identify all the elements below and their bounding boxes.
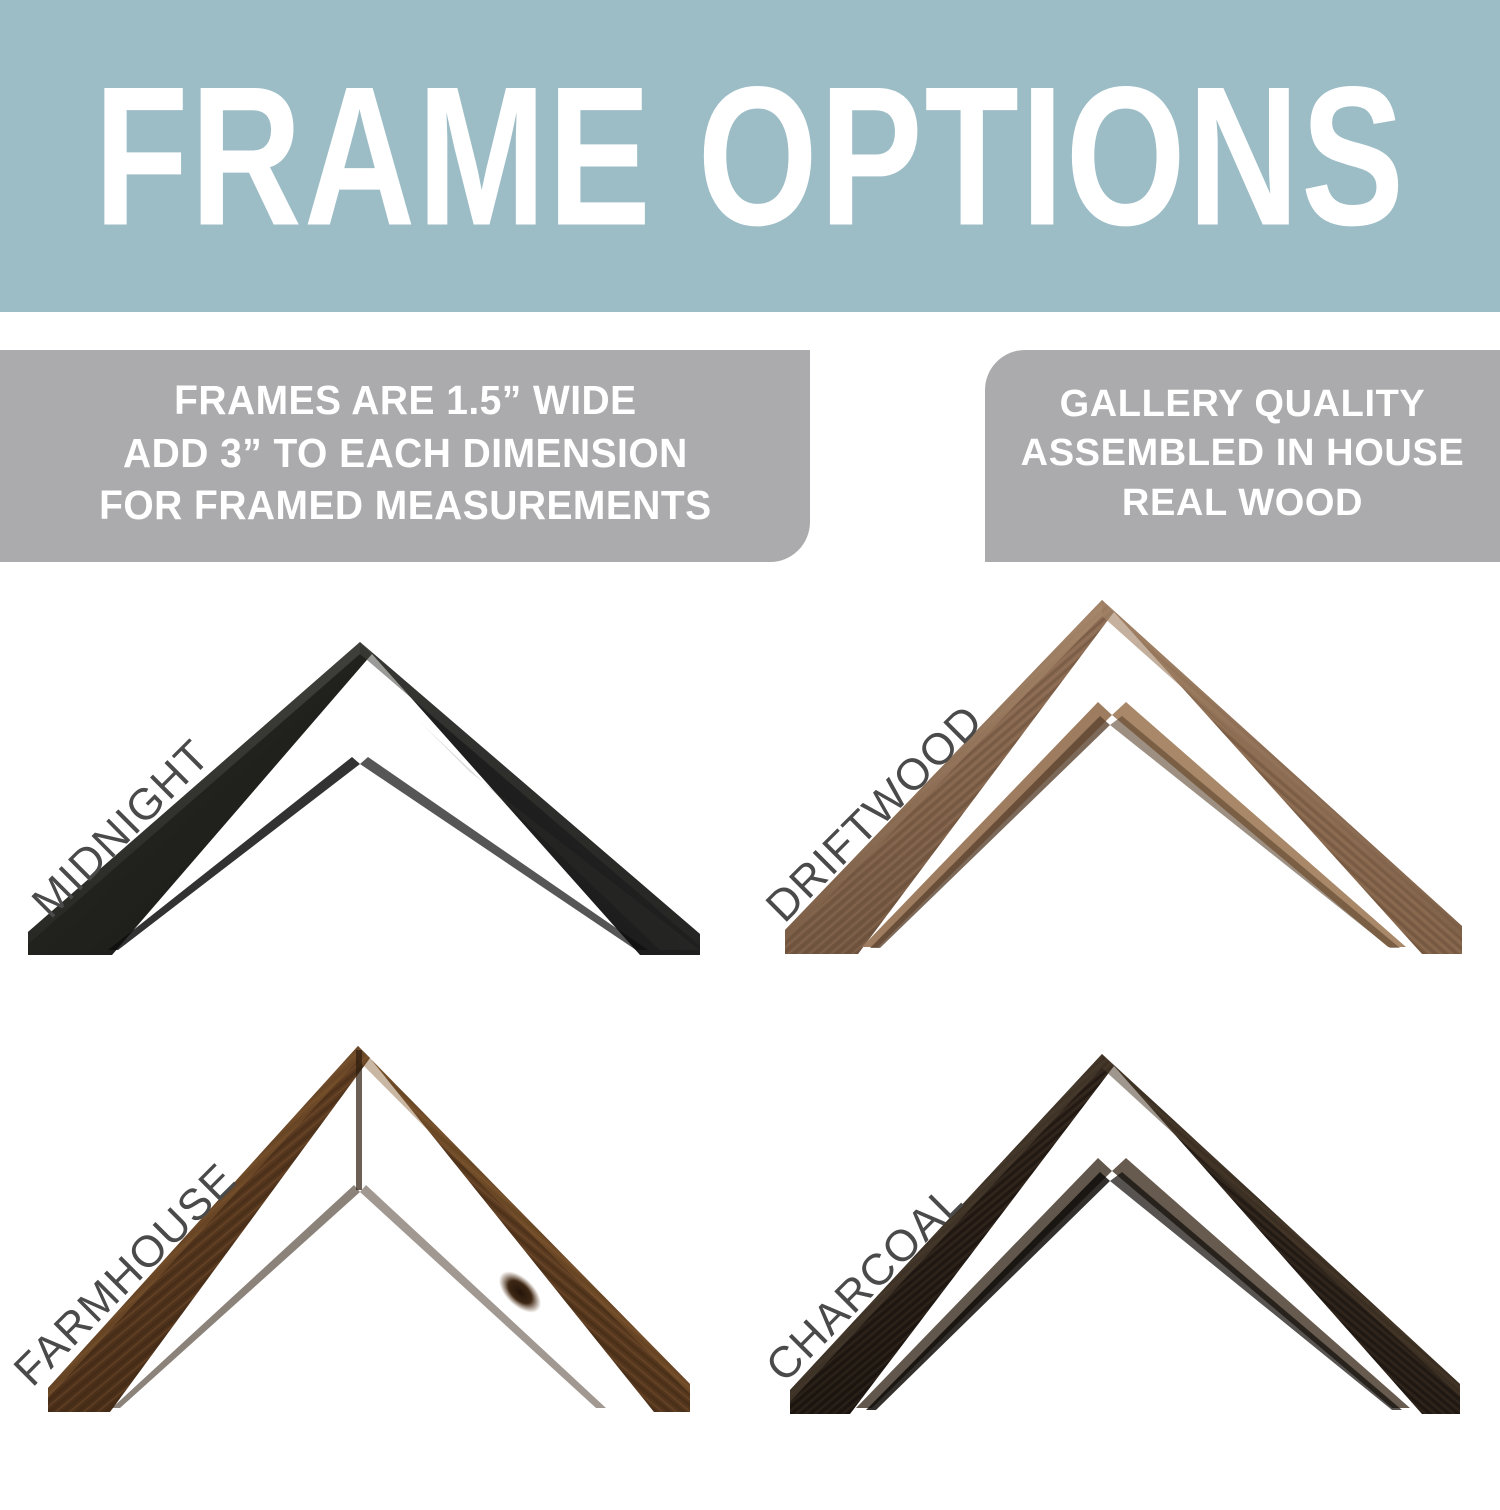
- frame-options-grid: MIDNIGHT: [0, 562, 1500, 1500]
- quality-line-1: GALLERY QUALITY: [1021, 380, 1465, 429]
- header-banner: FRAME OPTIONS: [0, 0, 1500, 312]
- measurements-line-3: FOR FRAMED MEASUREMENTS: [99, 479, 711, 531]
- page-title: FRAME OPTIONS: [94, 57, 1406, 255]
- info-box-measurements: FRAMES ARE 1.5” WIDE ADD 3” TO EACH DIME…: [0, 350, 810, 562]
- quality-line-3: REAL WOOD: [1021, 479, 1465, 528]
- info-box-quality: GALLERY QUALITY ASSEMBLED IN HOUSE REAL …: [985, 350, 1500, 562]
- frame-option-midnight[interactable]: MIDNIGHT: [0, 582, 750, 1052]
- measurements-line-2: ADD 3” TO EACH DIMENSION: [99, 427, 711, 479]
- frame-option-charcoal[interactable]: CHARCOAL: [750, 1040, 1500, 1510]
- quality-line-2: ASSEMBLED IN HOUSE: [1021, 429, 1465, 478]
- measurements-text: FRAMES ARE 1.5” WIDE ADD 3” TO EACH DIME…: [99, 374, 711, 531]
- frame-option-driftwood[interactable]: DRIFTWOOD: [750, 582, 1500, 1052]
- quality-text: GALLERY QUALITY ASSEMBLED IN HOUSE REAL …: [1021, 380, 1465, 528]
- frame-option-farmhouse[interactable]: FARMHOUSE: [0, 1040, 750, 1510]
- measurements-line-1: FRAMES ARE 1.5” WIDE: [99, 374, 711, 426]
